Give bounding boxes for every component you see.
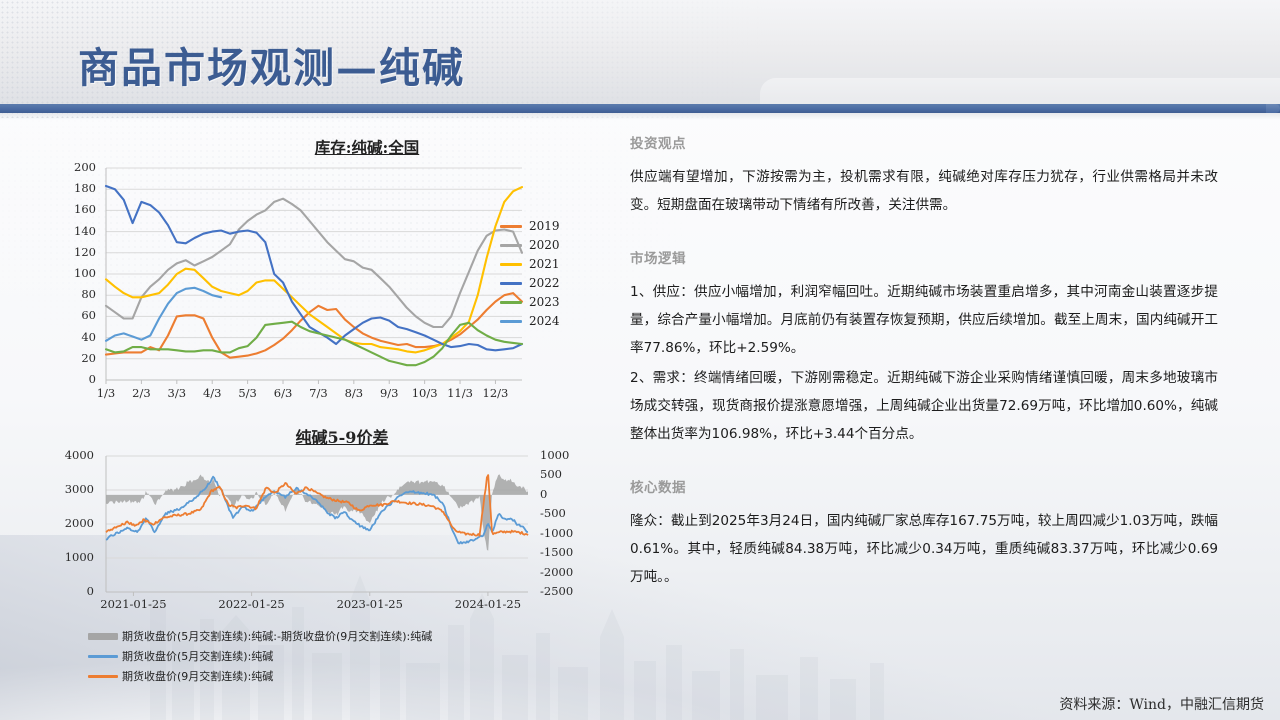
axis-tick-label-y: 20 bbox=[44, 351, 96, 365]
legend-item: 期货收盘价(5月交割连续):纯碱 bbox=[88, 648, 432, 664]
section-paragraph: 隆众：截止到2025年3月24日，国内纯碱厂家总库存167.75万吨，较上周四减… bbox=[630, 507, 1218, 591]
section-heading: 核心数据 bbox=[630, 476, 1218, 496]
commentary-panel: 投资观点 供应端有望增加，下游按需为主，投机需求有限，纯碱绝对库存压力犹存，行业… bbox=[630, 132, 1218, 593]
section-paragraph: 2、需求：终端情绪回暖，下游刚需稳定。近期纯碱下游企业采购情绪谨慎回暖，周末多地… bbox=[630, 364, 1218, 448]
legend-label: 期货收盘价(9月交割连续):纯碱 bbox=[122, 668, 273, 684]
axis-tick-label-y: 140 bbox=[44, 224, 96, 238]
axis-tick-label-y: -2500 bbox=[540, 584, 598, 598]
axis-tick-label-y: 2000 bbox=[44, 516, 94, 530]
chart2-svg bbox=[44, 448, 600, 618]
legend-label: 2021 bbox=[529, 257, 560, 271]
legend-label: 2019 bbox=[529, 219, 560, 233]
legend-swatch bbox=[500, 225, 522, 228]
chart1-title: 库存:纯碱:全国 bbox=[134, 136, 600, 158]
source-note: 资料来源：Wind，中融汇信期货 bbox=[1059, 694, 1264, 714]
header-shadow bbox=[0, 113, 1280, 120]
axis-tick-label-y: 60 bbox=[44, 308, 96, 322]
legend-label: 2022 bbox=[529, 276, 560, 290]
axis-tick-label-x: 2022-01-25 bbox=[210, 597, 294, 611]
legend-swatch bbox=[500, 282, 522, 285]
legend-swatch bbox=[88, 655, 118, 658]
legend-item: 2019 bbox=[500, 219, 560, 233]
section-investment-view: 投资观点 供应端有望增加，下游按需为主，投机需求有限，纯碱绝对库存压力犹存，行业… bbox=[630, 132, 1218, 219]
axis-tick-label-y: 3000 bbox=[44, 482, 94, 496]
axis-tick-label-x: 2024-01-25 bbox=[446, 597, 530, 611]
legend-label: 2024 bbox=[529, 314, 560, 328]
legend-swatch bbox=[500, 263, 522, 266]
slide-background: 商品市场观测—纯碱 库存:纯碱:全国 020406080100120140160… bbox=[0, 0, 1280, 720]
axis-tick-label-y: 4000 bbox=[44, 448, 94, 462]
legend-item: 2022 bbox=[500, 276, 560, 290]
legend-item: 2023 bbox=[500, 295, 560, 309]
legend-swatch bbox=[500, 301, 522, 304]
legend-label: 2023 bbox=[529, 295, 560, 309]
legend-item: 2021 bbox=[500, 257, 560, 271]
axis-tick-label-x: 2023-01-25 bbox=[328, 597, 412, 611]
chart1-legend: 201920202021202220232024 bbox=[500, 219, 560, 333]
legend-swatch bbox=[500, 320, 522, 323]
legend-swatch bbox=[500, 244, 522, 247]
axis-tick-label-x: 12/3 bbox=[469, 386, 521, 400]
axis-tick-label-y: 0 bbox=[540, 487, 598, 501]
legend-label: 2020 bbox=[529, 238, 560, 252]
axis-tick-label-y: 180 bbox=[44, 181, 96, 195]
legend-item: 2024 bbox=[500, 314, 560, 328]
spacer bbox=[630, 221, 1218, 247]
page-title: 商品市场观测—纯碱 bbox=[78, 34, 465, 94]
legend-swatch bbox=[88, 633, 118, 640]
legend-item: 2020 bbox=[500, 238, 560, 252]
axis-tick-label-y: 500 bbox=[540, 467, 598, 481]
axis-tick-label-y: 100 bbox=[44, 266, 96, 280]
axis-tick-label-y: 40 bbox=[44, 330, 96, 344]
chart-soda-ash-5-9-spread: 纯碱5-9价差 01000200030004000-2500-2000-1500… bbox=[44, 424, 600, 624]
axis-tick-label-y: -1000 bbox=[540, 526, 598, 540]
chart2-plot-area: 01000200030004000-2500-2000-1500-1000-50… bbox=[44, 448, 600, 618]
series-line-2024 bbox=[106, 288, 221, 341]
section-paragraph: 供应端有望增加，下游按需为主，投机需求有限，纯碱绝对库存压力犹存，行业供需格局并… bbox=[630, 163, 1218, 219]
section-heading: 市场逻辑 bbox=[630, 247, 1218, 267]
axis-tick-label-y: -500 bbox=[540, 506, 598, 520]
axis-tick-label-y: -2000 bbox=[540, 565, 598, 579]
axis-tick-label-y: 160 bbox=[44, 202, 96, 216]
axis-tick-label-y: 0 bbox=[44, 372, 96, 386]
legend-label: 期货收盘价(5月交割连续):纯碱:-期货收盘价(9月交割连续):纯碱 bbox=[122, 628, 432, 644]
section-heading: 投资观点 bbox=[630, 132, 1218, 152]
section-market-logic: 市场逻辑 1、供应：供应小幅增加，利润窄幅回吐。近期纯碱市场装置重启增多，其中河… bbox=[630, 247, 1218, 448]
chart2-legend: 期货收盘价(5月交割连续):纯碱:-期货收盘价(9月交割连续):纯碱期货收盘价(… bbox=[88, 628, 432, 688]
legend-label: 期货收盘价(5月交割连续):纯碱 bbox=[122, 648, 273, 664]
axis-tick-label-y: 80 bbox=[44, 287, 96, 301]
legend-swatch bbox=[88, 675, 118, 678]
header-accent-bar bbox=[0, 104, 1280, 113]
legend-item: 期货收盘价(5月交割连续):纯碱:-期货收盘价(9月交割连续):纯碱 bbox=[88, 628, 432, 644]
axis-tick-label-y: 0 bbox=[44, 584, 94, 598]
axis-tick-label-y: -1500 bbox=[540, 545, 598, 559]
legend-item: 期货收盘价(9月交割连续):纯碱 bbox=[88, 668, 432, 684]
axis-tick-label-y: 200 bbox=[44, 160, 96, 174]
spacer bbox=[630, 450, 1218, 476]
chart2-title: 纯碱5-9价差 bbox=[84, 424, 600, 448]
section-core-data: 核心数据 隆众：截止到2025年3月24日，国内纯碱厂家总库存167.75万吨，… bbox=[630, 476, 1218, 591]
axis-tick-label-y: 1000 bbox=[44, 550, 94, 564]
axis-tick-label-x: 2021-01-25 bbox=[91, 597, 175, 611]
axis-tick-label-y: 1000 bbox=[540, 448, 598, 462]
section-paragraph: 1、供应：供应小幅增加，利润窄幅回吐。近期纯碱市场装置重启增多，其中河南金山装置… bbox=[630, 278, 1218, 362]
axis-tick-label-y: 120 bbox=[44, 245, 96, 259]
